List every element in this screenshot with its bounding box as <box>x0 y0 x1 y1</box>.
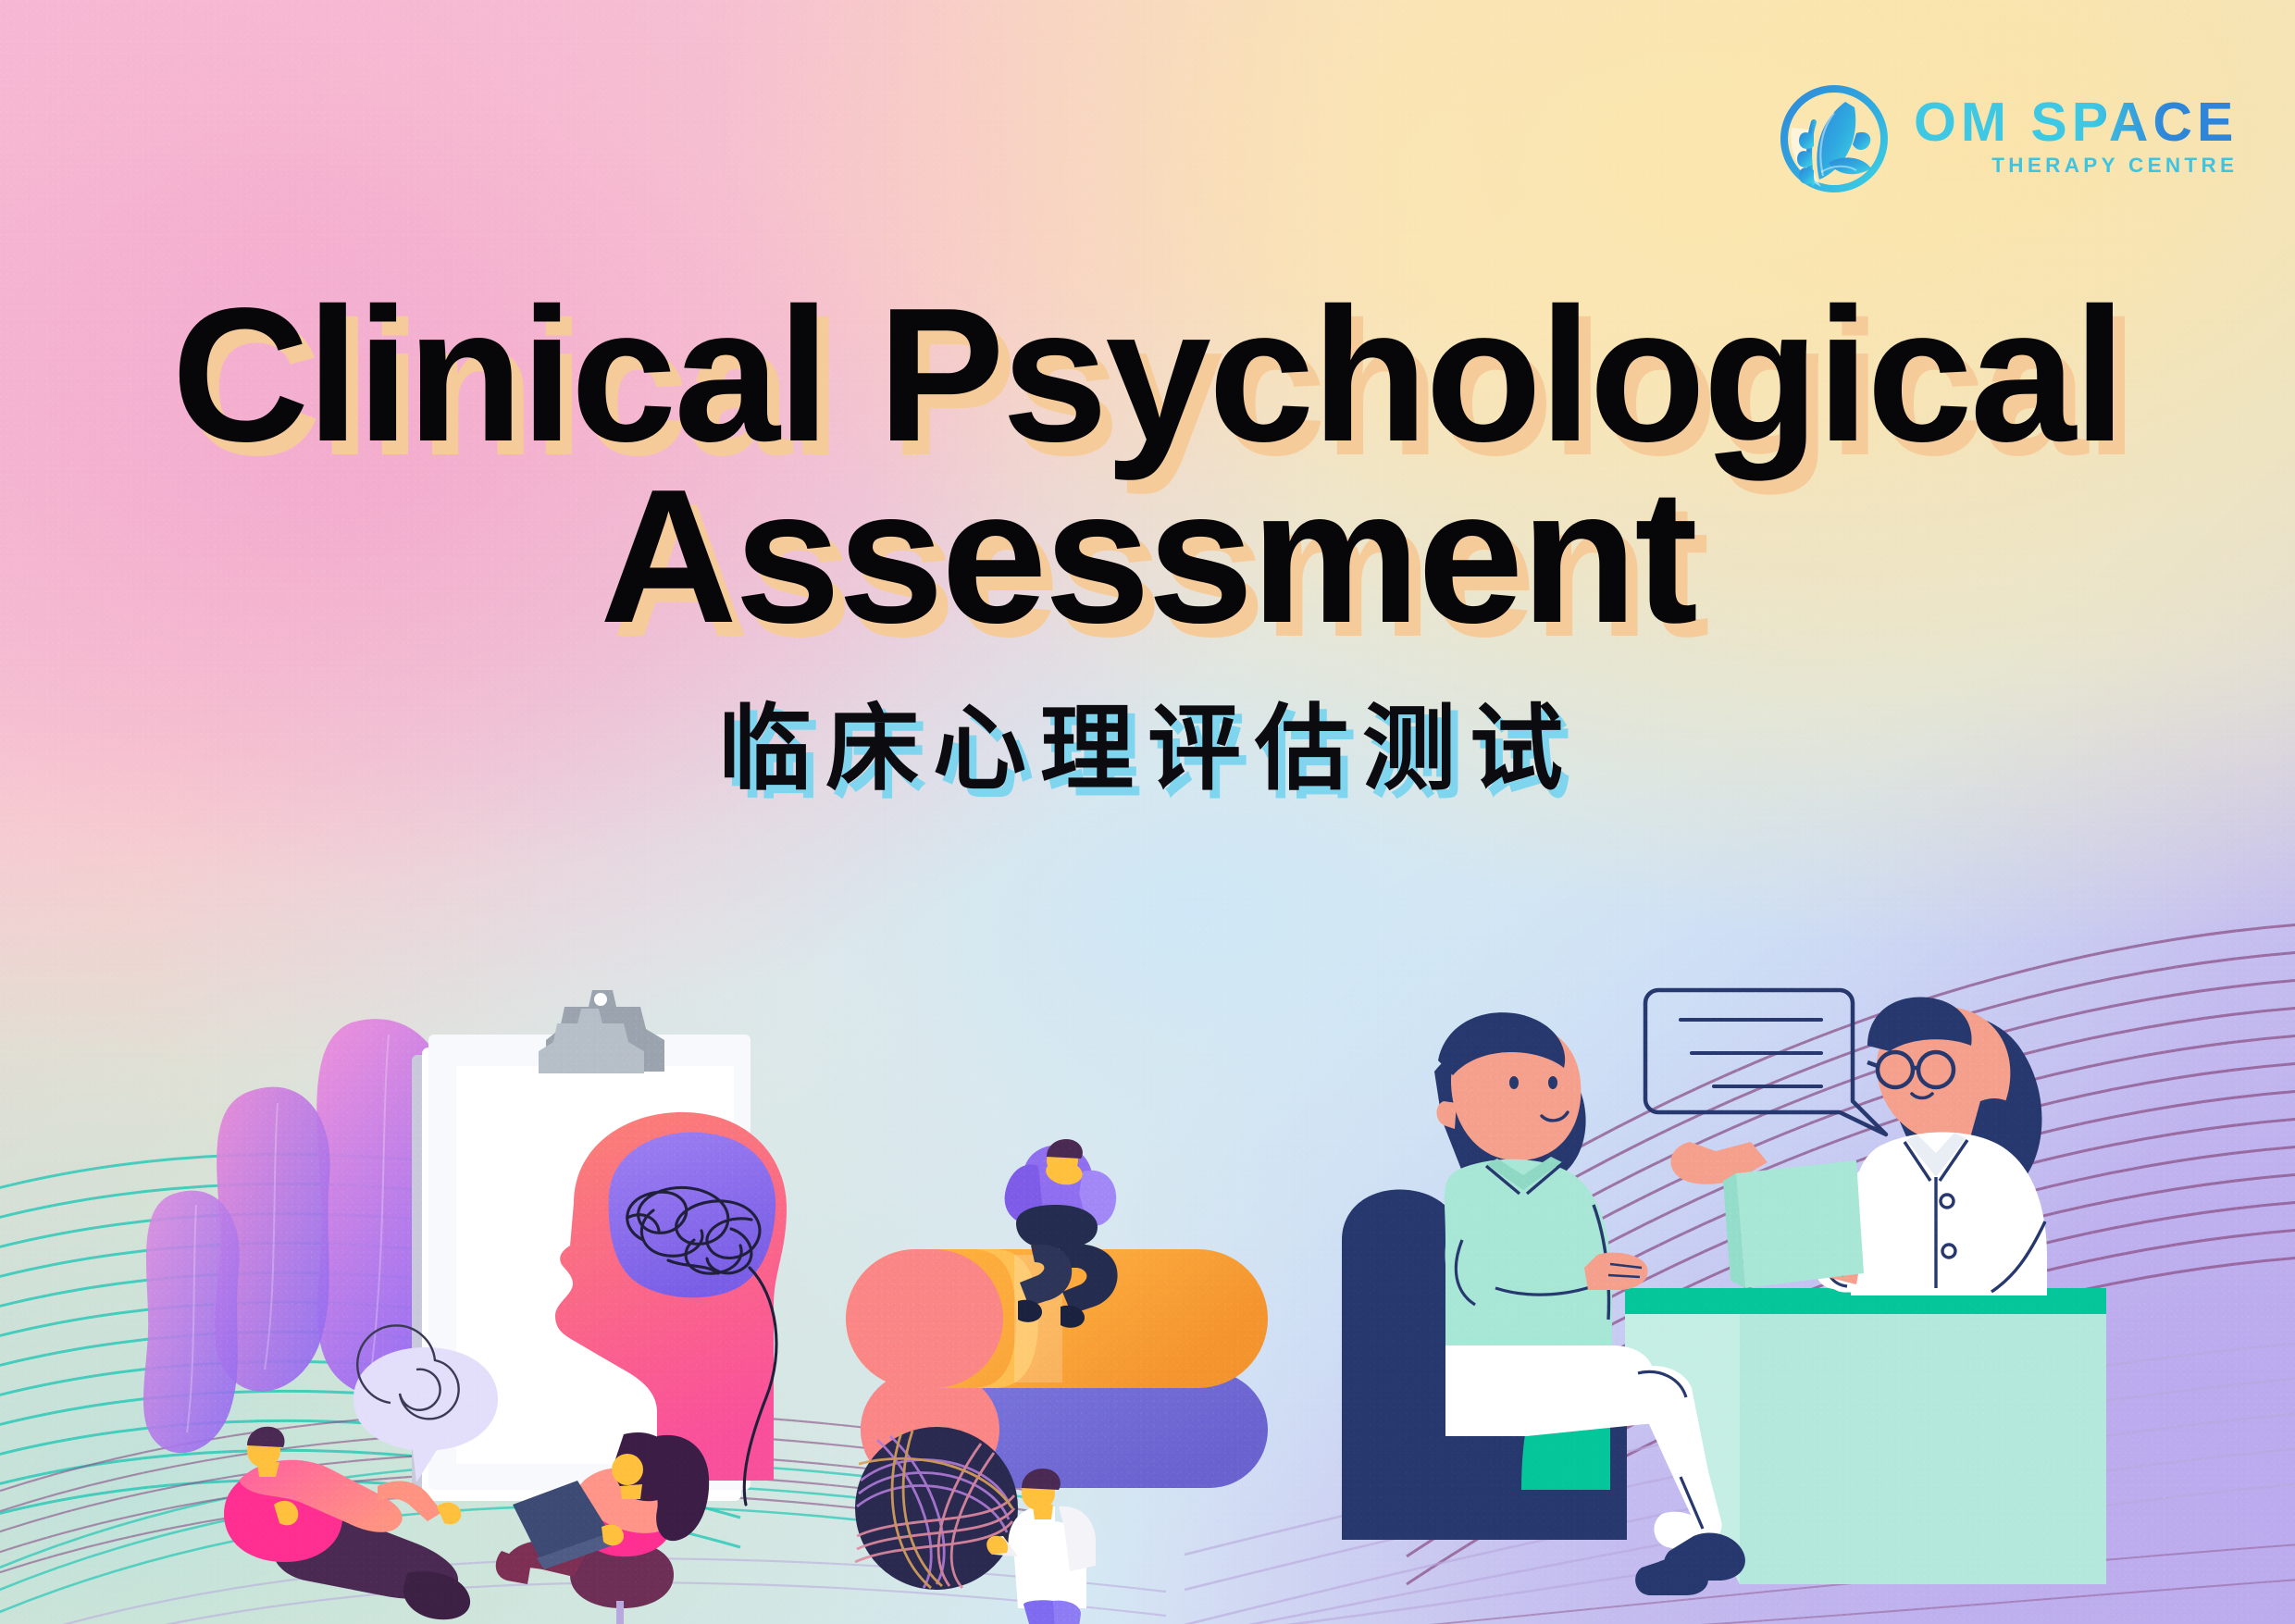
leaf-circle-icon <box>1775 80 1893 198</box>
brand-wordmark: OM SPACE THERAPY CENTRE <box>1914 96 2238 182</box>
poster-canvas: OM SPACE THERAPY CENTRE Clinical Psychol… <box>0 0 2295 1624</box>
brand-logo[interactable]: OM SPACE THERAPY CENTRE <box>1775 80 2238 198</box>
brand-tagline: THERAPY CENTRE <box>1991 154 2238 178</box>
background-grain-texture <box>0 0 2295 1624</box>
brand-name: OM SPACE <box>1914 96 2238 150</box>
